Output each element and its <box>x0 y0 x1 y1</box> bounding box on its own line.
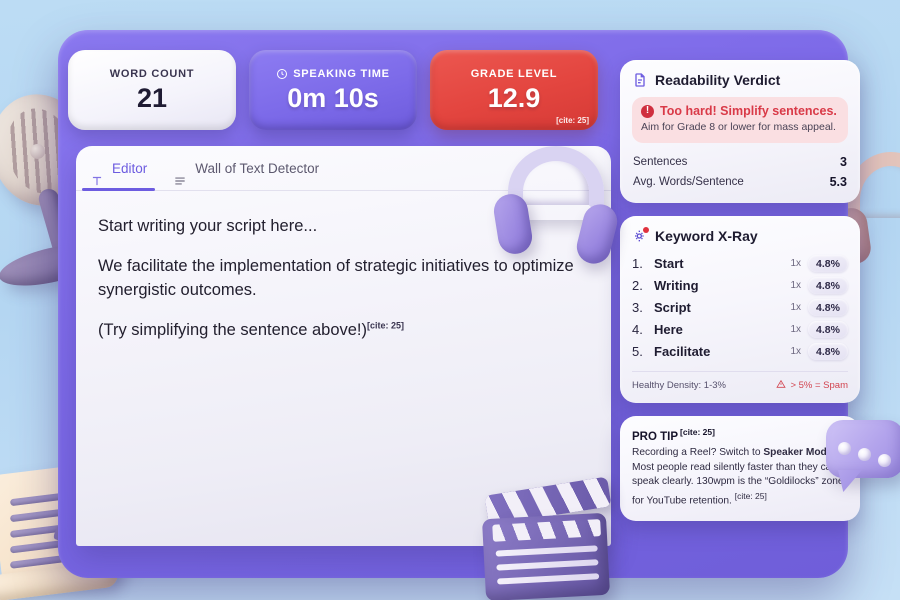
keyword-row[interactable]: 4. Here 1x 4.8% <box>632 319 848 341</box>
citation-marker: [cite: 25] <box>556 116 589 125</box>
clock-icon <box>276 68 288 80</box>
right-sidebar: Readability Verdict ! Too hard! Simplify… <box>620 60 860 521</box>
alert-headline: Too hard! Simplify sentences. <box>660 104 837 118</box>
notification-dot-icon <box>643 227 649 233</box>
card-title-text: Readability Verdict <box>655 72 780 88</box>
keyword-count: 1x <box>790 346 801 357</box>
editor-tab-bar: Editor Wall of Text Detector <box>76 146 611 191</box>
tab-label: Wall of Text Detector <box>195 146 319 191</box>
keyword-count: 1x <box>790 258 801 269</box>
pro-tip-body: Recording a Reel? Switch to Speaker Mode… <box>632 446 848 508</box>
tab-editor[interactable]: Editor <box>90 146 147 191</box>
spam-warning-text: > 5% = Spam <box>790 380 848 391</box>
list-lines-icon <box>173 161 187 175</box>
editor-card: Editor Wall of Text Detector Start writi… <box>76 146 611 546</box>
editor-line-with-citation: (Try simplifying the sentence above!)[ci… <box>98 319 589 342</box>
editor-line-text: (Try simplifying the sentence above!) <box>98 321 367 339</box>
metric-label: Sentences <box>633 156 687 168</box>
stat-card-grade-level[interactable]: GRADE LEVEL 12.9 [cite: 25] <box>430 50 598 130</box>
metric-row-sentences: Sentences 3 <box>632 152 848 172</box>
stat-card-speaking-time[interactable]: SPEAKING TIME 0m 10s <box>249 50 417 130</box>
readability-verdict-card: Readability Verdict ! Too hard! Simplify… <box>620 60 860 203</box>
alert-subtext: Aim for Grade 8 or lower for mass appeal… <box>641 121 839 135</box>
stat-label-text: SPEAKING TIME <box>293 68 390 80</box>
metric-value: 3 <box>840 155 847 169</box>
keyword-row[interactable]: 1. Start 1x 4.8% <box>632 253 848 275</box>
stat-label: SPEAKING TIME <box>276 68 390 80</box>
gear-icon <box>632 228 648 244</box>
citation-marker: [cite: 25] <box>735 491 767 501</box>
keyword-row[interactable]: 5. Facilitate 1x 4.8% <box>632 341 848 363</box>
keyword-footer: Healthy Density: 1-3% > 5% = Spam <box>632 371 848 392</box>
metric-row-avg-words: Avg. Words/Sentence 5.3 <box>632 172 848 192</box>
pro-tip-text-part1: Recording a Reel? Switch to <box>632 447 763 458</box>
stat-label: WORD COUNT <box>110 68 195 80</box>
keyword-density-badge: 4.8% <box>808 321 848 338</box>
stat-label: GRADE LEVEL <box>471 68 557 80</box>
keyword-row[interactable]: 3. Script 1x 4.8% <box>632 297 848 319</box>
warning-triangle-icon <box>776 379 786 392</box>
pro-tip-card: PRO TIP[cite: 25] Recording a Reel? Swit… <box>620 416 860 521</box>
healthy-density-label: Healthy Density: 1-3% <box>632 380 726 391</box>
readability-verdict-title: Readability Verdict <box>632 72 848 88</box>
keyword-xray-card: Keyword X-Ray 1. Start 1x 4.8% 2. Writin… <box>620 216 860 403</box>
pro-tip-heading: PRO TIP[cite: 25] <box>632 427 848 443</box>
keyword-count: 1x <box>790 302 801 313</box>
citation-marker: [cite: 25] <box>367 321 404 331</box>
metric-label: Avg. Words/Sentence <box>633 176 744 188</box>
stats-row: WORD COUNT 21 SPEAKING TIME 0m 10s GRADE… <box>68 50 598 130</box>
keyword-word: Script <box>654 300 783 315</box>
document-icon <box>632 72 648 88</box>
stat-label-text: GRADE LEVEL <box>471 68 557 80</box>
stat-card-word-count[interactable]: WORD COUNT 21 <box>68 50 236 130</box>
keyword-density-badge: 4.8% <box>808 299 848 316</box>
app-scene: WORD COUNT 21 SPEAKING TIME 0m 10s GRADE… <box>0 0 900 600</box>
keyword-count: 1x <box>790 324 801 335</box>
citation-marker: [cite: 25] <box>680 427 715 437</box>
stat-label-text: WORD COUNT <box>110 68 195 80</box>
keyword-word: Here <box>654 322 783 337</box>
keyword-word: Start <box>654 256 783 271</box>
stat-value: 21 <box>137 83 167 113</box>
keyword-index: 4. <box>632 322 647 337</box>
text-format-icon <box>90 161 104 175</box>
tab-wall-of-text-detector[interactable]: Wall of Text Detector <box>173 146 319 191</box>
keyword-word: Facilitate <box>654 344 783 359</box>
editor-line: Start writing your script here... <box>98 215 589 238</box>
pro-tip-heading-text: PRO TIP <box>632 430 678 442</box>
error-badge-icon: ! <box>641 105 654 118</box>
keyword-index: 3. <box>632 300 647 315</box>
keyword-density-badge: 4.8% <box>808 277 848 294</box>
pro-tip-text-emphasis: Speaker Mode <box>763 447 832 458</box>
keyword-density-badge: 4.8% <box>808 343 848 360</box>
keyword-index: 2. <box>632 278 647 293</box>
keyword-density-badge: 4.8% <box>808 255 848 272</box>
spam-warning: > 5% = Spam <box>776 379 848 392</box>
keyword-index: 1. <box>632 256 647 271</box>
alert-headline-row: ! Too hard! Simplify sentences. <box>641 104 839 118</box>
keyword-row[interactable]: 2. Writing 1x 4.8% <box>632 275 848 297</box>
stat-value: 12.9 <box>488 83 541 113</box>
metric-value: 5.3 <box>830 175 847 189</box>
card-title-text: Keyword X-Ray <box>655 228 758 244</box>
editor-text-area[interactable]: Start writing your script here... We fac… <box>76 191 611 367</box>
keyword-word: Writing <box>654 278 783 293</box>
readability-alert: ! Too hard! Simplify sentences. Aim for … <box>632 97 848 143</box>
keyword-xray-title: Keyword X-Ray <box>632 228 848 244</box>
keyword-index: 5. <box>632 344 647 359</box>
editor-line: We facilitate the implementation of stra… <box>98 255 589 302</box>
keyword-count: 1x <box>790 280 801 291</box>
stat-value: 0m 10s <box>287 83 379 113</box>
tab-label: Editor <box>112 146 147 191</box>
